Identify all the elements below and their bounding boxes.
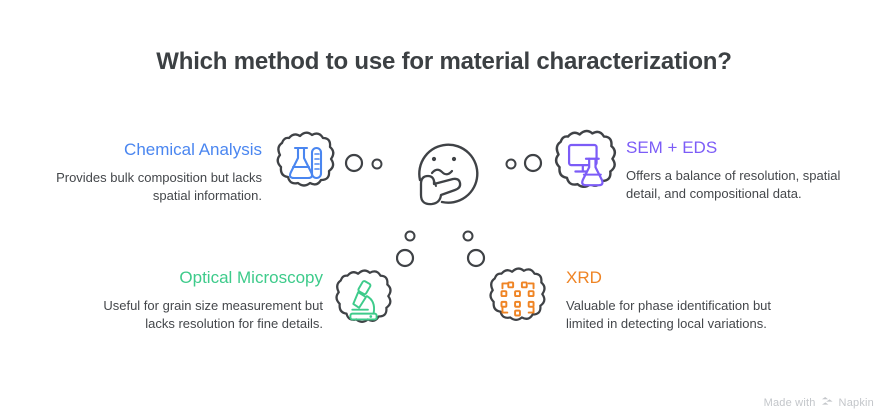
method-heading-xrd: XRD (566, 268, 786, 288)
thought-trail-dots-right-top (504, 151, 554, 180)
method-description-xrd: Valuable for phase identification but li… (566, 297, 786, 332)
method-description-sem-eds: Offers a balance of resolution, spatial … (626, 167, 856, 202)
thought-trail-dots-left-bottom (396, 228, 426, 279)
method-block-sem-eds[interactable]: SEM + EDS Offers a balance of resolution… (626, 138, 856, 202)
page-title: Which method to use for material charact… (0, 48, 888, 76)
monitor-flask-icon (549, 126, 623, 200)
method-description-optical-microscopy: Useful for grain size measurement but la… (78, 297, 323, 332)
method-description-chemical-analysis: Provides bulk composition but lacks spat… (18, 169, 262, 204)
method-block-chemical-analysis[interactable]: Chemical Analysis Provides bulk composit… (18, 140, 262, 204)
method-heading-sem-eds: SEM + EDS (626, 138, 856, 158)
infographic-canvas: Which method to use for material charact… (0, 0, 888, 420)
watermark-brand: Napkin (839, 397, 874, 409)
flask-test-tube-icon (271, 128, 341, 198)
method-block-optical-microscopy[interactable]: Optical Microscopy Useful for grain size… (78, 268, 323, 332)
watermark: Made with Napkin (764, 396, 874, 410)
thinking-face-icon (398, 122, 498, 213)
method-block-xrd[interactable]: XRD Valuable for phase identification bu… (566, 268, 786, 332)
method-heading-optical-microscopy: Optical Microscopy (78, 268, 323, 288)
microscope-icon (330, 266, 398, 334)
watermark-prefix: Made with (764, 397, 816, 409)
thought-trail-dots-left-top (344, 151, 394, 180)
crystal-lattice-grid-icon (484, 264, 552, 332)
method-heading-chemical-analysis: Chemical Analysis (18, 140, 262, 160)
napkin-logo-icon (821, 396, 834, 410)
